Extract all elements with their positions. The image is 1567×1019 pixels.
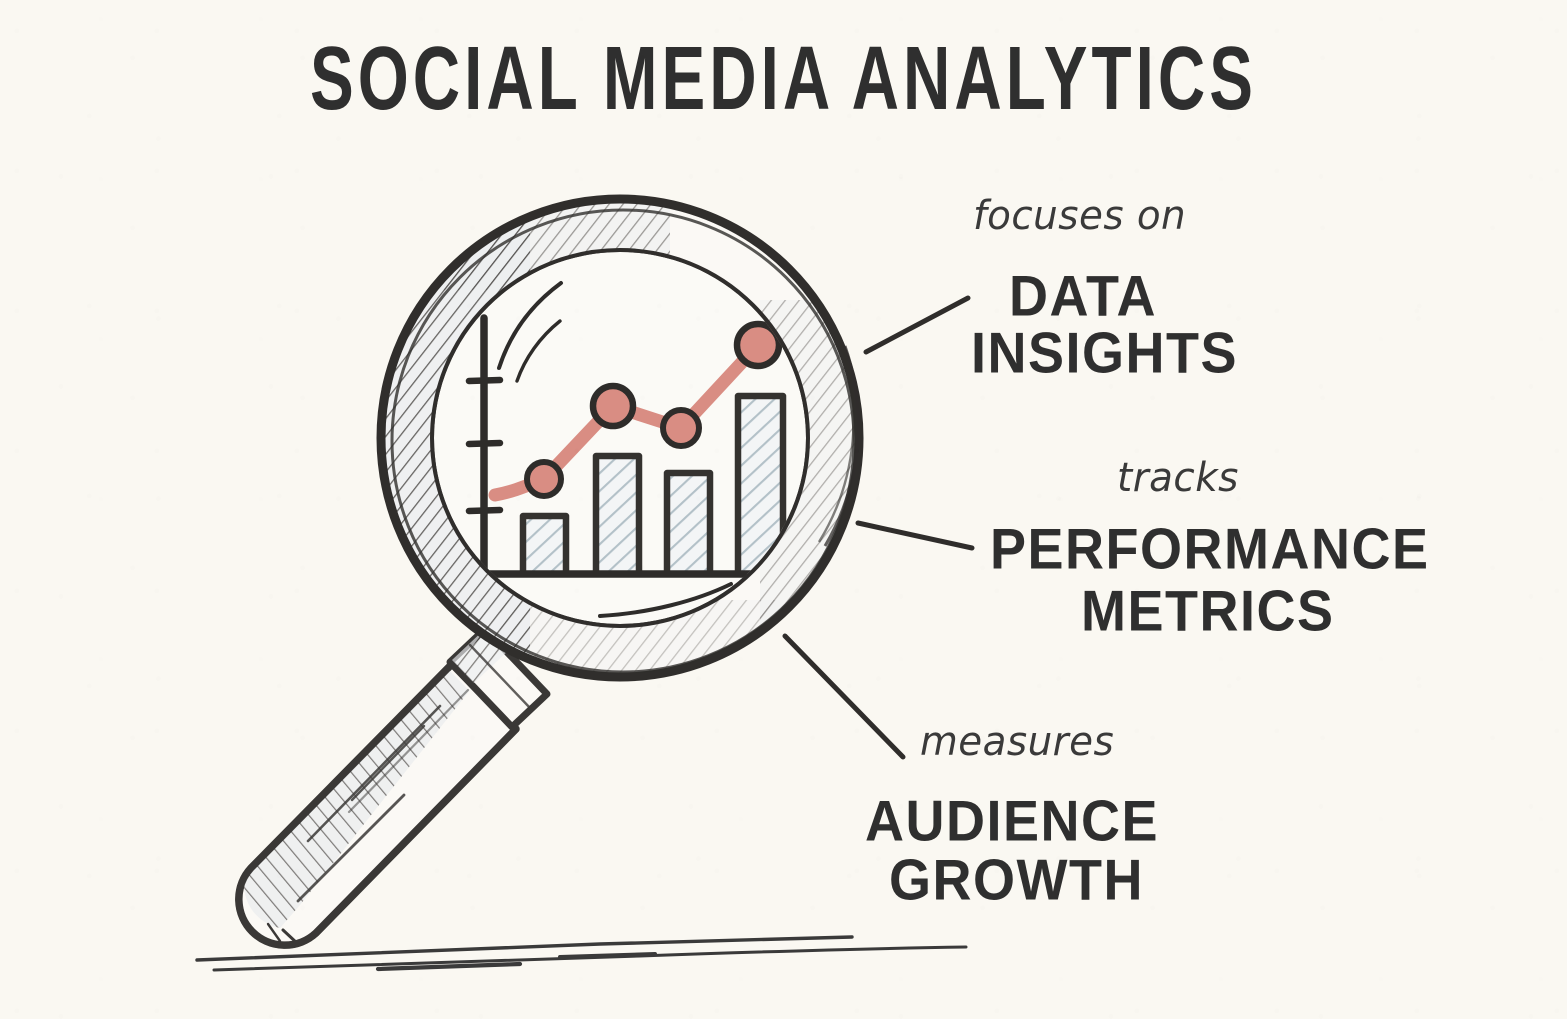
annotation-line2-data-insights: INSIGHTS (971, 325, 1238, 382)
ground-shadow-lines (197, 937, 966, 970)
annotation-line2-audience-growth: GROWTH (889, 852, 1144, 909)
annotation-line1-audience-growth: AUDIENCE (865, 793, 1159, 850)
annotation-line2-performance-metrics: METRICS (1081, 583, 1335, 640)
leader-line-performance-metrics (858, 523, 972, 548)
annotation-line1-performance-metrics: PERFORMANCE (990, 521, 1430, 578)
annotation-verb-performance-metrics: tracks (1117, 458, 1239, 498)
infographic-canvas: SOCIAL MEDIA ANALYTICS focuses on DATA I… (0, 0, 1567, 1019)
annotation-line1-data-insights: DATA (1009, 268, 1157, 325)
page-title: SOCIAL MEDIA ANALYTICS (157, 34, 1411, 124)
annotation-verb-data-insights: focuses on (973, 196, 1186, 236)
magnifier-handle (239, 627, 548, 945)
leader-line-data-insights (866, 298, 968, 352)
illustration-magnifier-chart (0, 0, 1567, 1019)
annotation-verb-audience-growth: measures (920, 722, 1114, 762)
leader-line-audience-growth (785, 636, 903, 757)
magnifier-lens (434, 252, 806, 624)
